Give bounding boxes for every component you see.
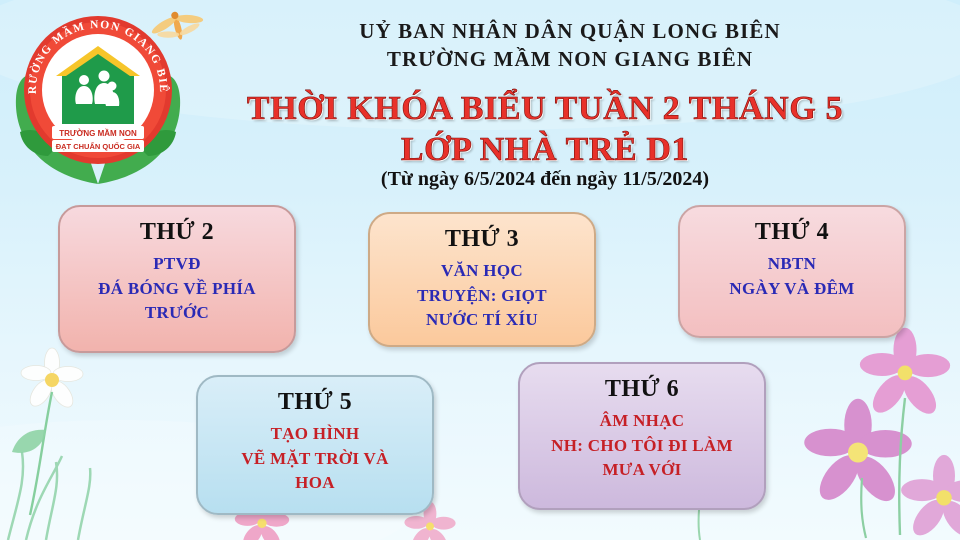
day-card-body: NBTN NGÀY VÀ ĐÊM: [721, 252, 862, 301]
title-line-2: LỚP NHÀ TRẺ D1: [150, 129, 940, 170]
day-card-body: ÂM NHẠC NH: CHO TÔI ĐI LÀM MƯA VỚI: [543, 409, 741, 483]
day-card-body: VĂN HỌC TRUYỆN: GIỌT NƯỚC TÍ XÍU: [409, 259, 555, 333]
day-card-line: VẼ MẶT TRỜI VÀ: [241, 447, 388, 472]
page-title: THỜI KHÓA BIỂU TUẦN 2 THÁNG 5 LỚP NHÀ TR…: [150, 88, 940, 171]
day-card-body: PTVĐ ĐÁ BÓNG VỀ PHÍA TRƯỚC: [90, 252, 264, 326]
header-line-2: TRƯỜNG MẦM NON GIANG BIÊN: [190, 46, 950, 74]
header-block: UỶ BAN NHÂN DÂN QUẬN LONG BIÊN TRƯỜNG MẦ…: [190, 18, 950, 73]
day-card-thu-2: THỨ 2 PTVĐ ĐÁ BÓNG VỀ PHÍA TRƯỚC: [58, 205, 296, 353]
title-line-1: THỜI KHÓA BIỂU TUẦN 2 THÁNG 5: [150, 88, 940, 129]
day-card-line: HOA: [241, 471, 388, 496]
day-card-title: THỨ 5: [278, 389, 352, 416]
day-card-line: PTVĐ: [98, 252, 256, 277]
day-card-thu-5: THỨ 5 TẠO HÌNH VẼ MẶT TRỜI VÀ HOA: [196, 375, 434, 515]
slide-canvas: TRƯỜNG MẦM NON GIANG BIÊN TRƯỜNG MẦM NON…: [0, 0, 960, 540]
day-card-body: TẠO HÌNH VẼ MẶT TRỜI VÀ HOA: [233, 422, 396, 496]
day-card-line: ÂM NHẠC: [551, 409, 733, 434]
day-card-thu-3: THỨ 3 VĂN HỌC TRUYỆN: GIỌT NƯỚC TÍ XÍU: [368, 212, 596, 347]
day-card-line: MƯA VỚI: [551, 458, 733, 483]
day-card-line: NBTN: [729, 252, 854, 277]
day-card-line: ĐÁ BÓNG VỀ PHÍA: [98, 277, 256, 302]
day-card-title: THỨ 3: [445, 226, 519, 253]
day-card-title: THỨ 6: [605, 376, 679, 403]
day-card-line: VĂN HỌC: [417, 259, 547, 284]
day-card-line: TẠO HÌNH: [241, 422, 388, 447]
logo-inner-line2: ĐẠT CHUẨN QUỐC GIA: [56, 141, 141, 151]
day-card-thu-6: THỨ 6 ÂM NHẠC NH: CHO TÔI ĐI LÀM MƯA VỚI: [518, 362, 766, 510]
day-card-line: TRƯỚC: [98, 301, 256, 326]
header-line-1: UỶ BAN NHÂN DÂN QUẬN LONG BIÊN: [190, 18, 950, 46]
day-card-title: THỨ 2: [140, 219, 214, 246]
day-card-line: NGÀY VÀ ĐÊM: [729, 277, 854, 302]
day-card-title: THỨ 4: [755, 219, 829, 246]
date-range-subtitle: (Từ ngày 6/5/2024 đến ngày 11/5/2024): [150, 168, 940, 191]
logo-inner-line1: TRƯỜNG MẦM NON: [59, 128, 137, 138]
day-card-thu-4: THỨ 4 NBTN NGÀY VÀ ĐÊM: [678, 205, 906, 338]
day-card-line: TRUYỆN: GIỌT: [417, 284, 547, 309]
day-card-line: NH: CHO TÔI ĐI LÀM: [551, 434, 733, 459]
day-card-line: NƯỚC TÍ XÍU: [417, 308, 547, 333]
